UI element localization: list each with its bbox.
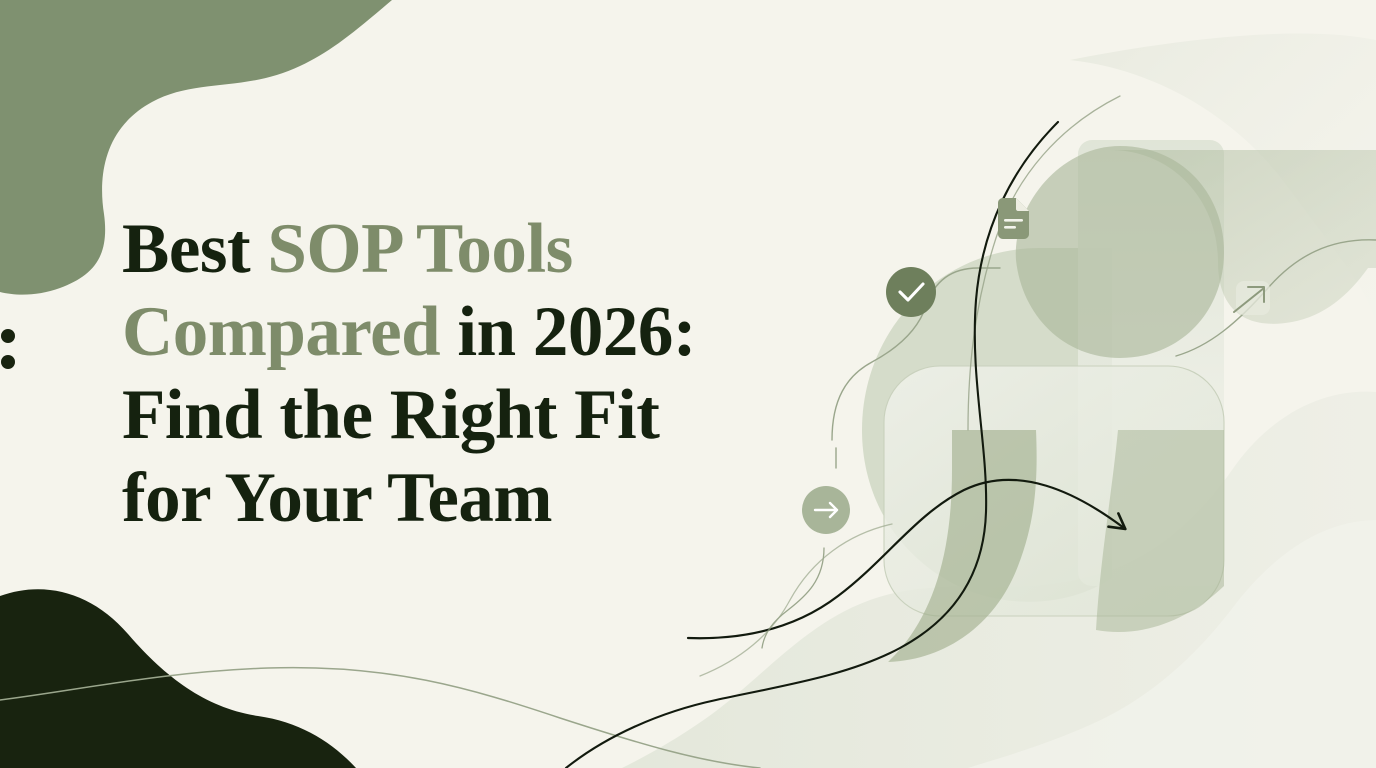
title-segment-for-your-team: for Your Team — [122, 459, 552, 537]
title-segment-compared: Compared — [122, 293, 440, 371]
sage-wiggle-line — [762, 548, 824, 648]
dot-upper — [1, 329, 15, 343]
arrow-up-right-icon — [1234, 281, 1270, 315]
title-segment-find-the-right-fit: Find the Right Fit — [122, 376, 659, 454]
title-segment-in-2026: in 2026: — [440, 293, 696, 371]
sage-tall-arc — [968, 96, 1120, 430]
thin-sage-sweep — [0, 668, 760, 768]
faint-grey-curve — [700, 524, 892, 676]
hero-banner: Best SOP Tools Compared in 2026: Find th… — [0, 0, 1376, 768]
check-circle-icon — [886, 267, 936, 317]
arrow-right-circle-icon — [802, 486, 850, 534]
sage-upper-right-curve — [1176, 240, 1376, 356]
title-segment-sop-tools: SOP Tools — [267, 210, 572, 288]
dot-lower — [1, 355, 15, 369]
document-icon — [998, 198, 1029, 239]
title-segment-best: Best — [122, 210, 267, 288]
page-title: Best SOP Tools Compared in 2026: Find th… — [122, 208, 782, 540]
